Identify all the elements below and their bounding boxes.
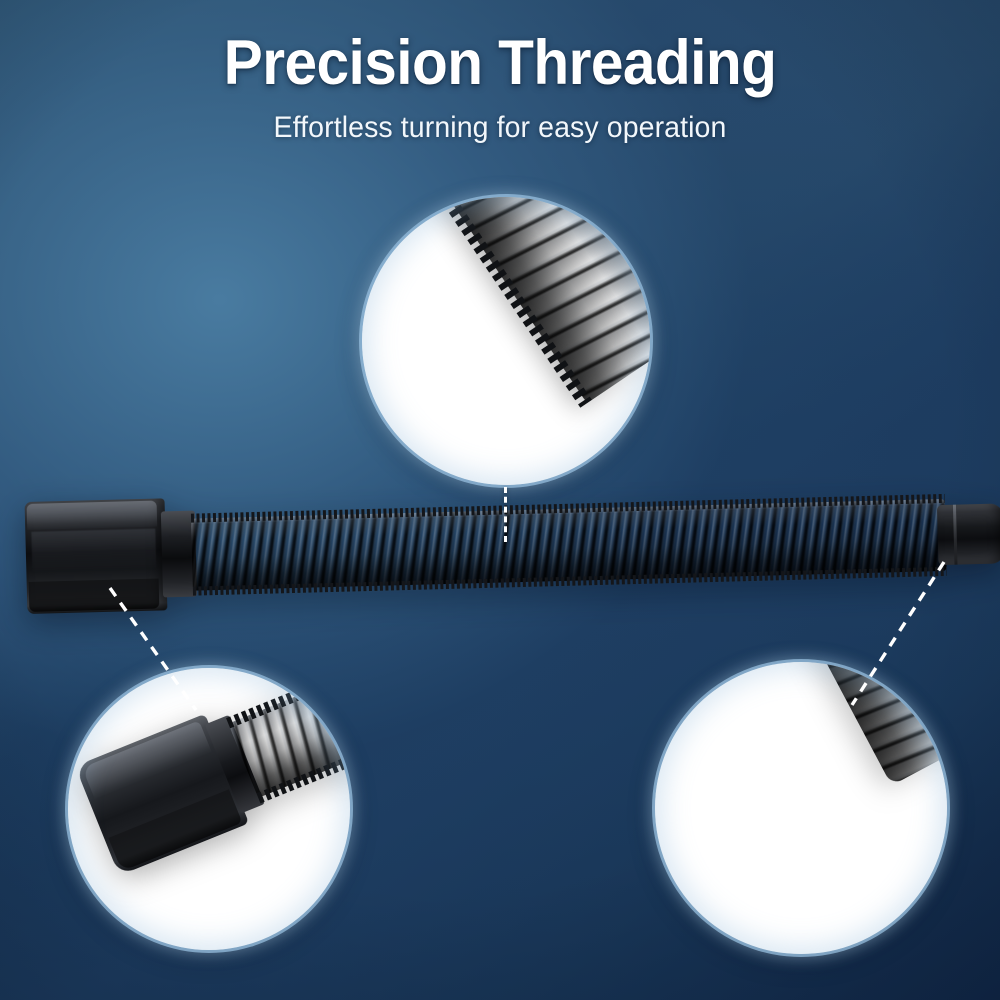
leader-to-tip-callout — [0, 0, 1000, 1000]
banner-heading-block: Precision Threading Effortless turning f… — [0, 28, 1000, 148]
product-feature-banner: Precision Threading Effortless turning f… — [0, 0, 1000, 1000]
banner-title: Precision Threading — [35, 28, 965, 98]
banner-subtitle: Effortless turning for easy operation — [25, 108, 975, 148]
